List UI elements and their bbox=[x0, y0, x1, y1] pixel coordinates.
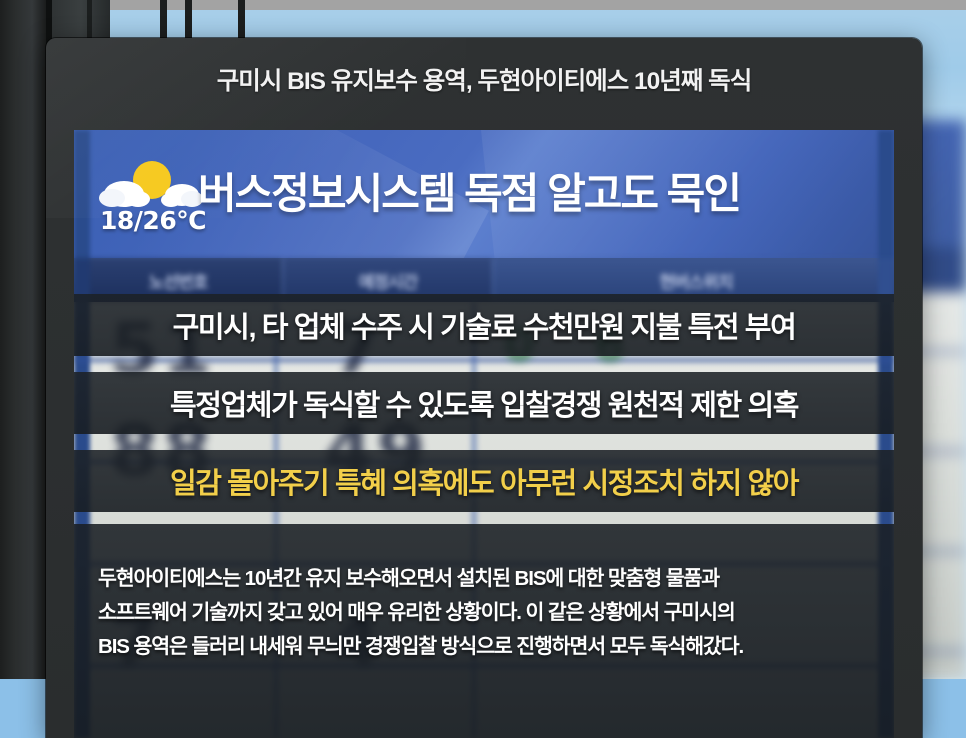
screen-headline: 버스정보시스템 독점 알고도 묵인 bbox=[198, 160, 888, 221]
subhead-band-1: 구미시, 타 업체 수주 시 기술료 수천만원 지불 특전 부여 bbox=[74, 294, 894, 356]
subhead-text-3: 일감 몰아주기 특혜 의혹에도 아무런 시정조치 하지 않아 bbox=[170, 460, 798, 502]
body-line-2: 소프트웨어 기술까지 갖고 있어 매우 유리한 상황이다. 이 같은 상황에서 … bbox=[98, 596, 870, 630]
body-paragraph: 두현아이티에스는 10년간 유지 보수해오면서 설치된 BIS에 대한 맞춤형 … bbox=[98, 562, 870, 664]
sun-behind-cloud-icon bbox=[96, 158, 208, 210]
news-card: 구미시 BIS 유지보수 용역, 두현아이티에스 10년째 독식 51 7 0 … bbox=[46, 38, 922, 738]
subhead-text-2: 특정업체가 독식할 수 있도록 입찰경쟁 원천적 제한 의혹 bbox=[170, 382, 798, 424]
body-line-3: BIS 용역은 들러리 내세워 무늬만 경쟁입찰 방식으로 진행하면서 모두 독… bbox=[98, 630, 870, 664]
subhead-text-1: 구미시, 타 업체 수주 시 기술료 수천만원 지불 특전 부여 bbox=[173, 304, 796, 346]
bis-screen: 51 7 0 6 88 49 7 4 18/26℃ bbox=[74, 130, 894, 738]
pole-left-outer bbox=[0, 0, 46, 679]
subhead-band-2: 특정업체가 독식할 수 있도록 입찰경쟁 원천적 제한 의혹 bbox=[74, 372, 894, 434]
mast-2 bbox=[185, 0, 192, 40]
body-line-1: 두현아이티에스는 10년간 유지 보수해오면서 설치된 BIS에 대한 맞춤형 … bbox=[98, 562, 870, 596]
body-block: 두현아이티에스는 10년간 유지 보수해오면서 설치된 BIS에 대한 맞춤형 … bbox=[74, 524, 894, 738]
card-kicker-title: 구미시 BIS 유지보수 용역, 두현아이티에스 10년째 독식 bbox=[46, 62, 922, 97]
subhead-band-3: 일감 몰아주기 특혜 의혹에도 아무런 시정조치 하지 않아 bbox=[74, 450, 894, 512]
